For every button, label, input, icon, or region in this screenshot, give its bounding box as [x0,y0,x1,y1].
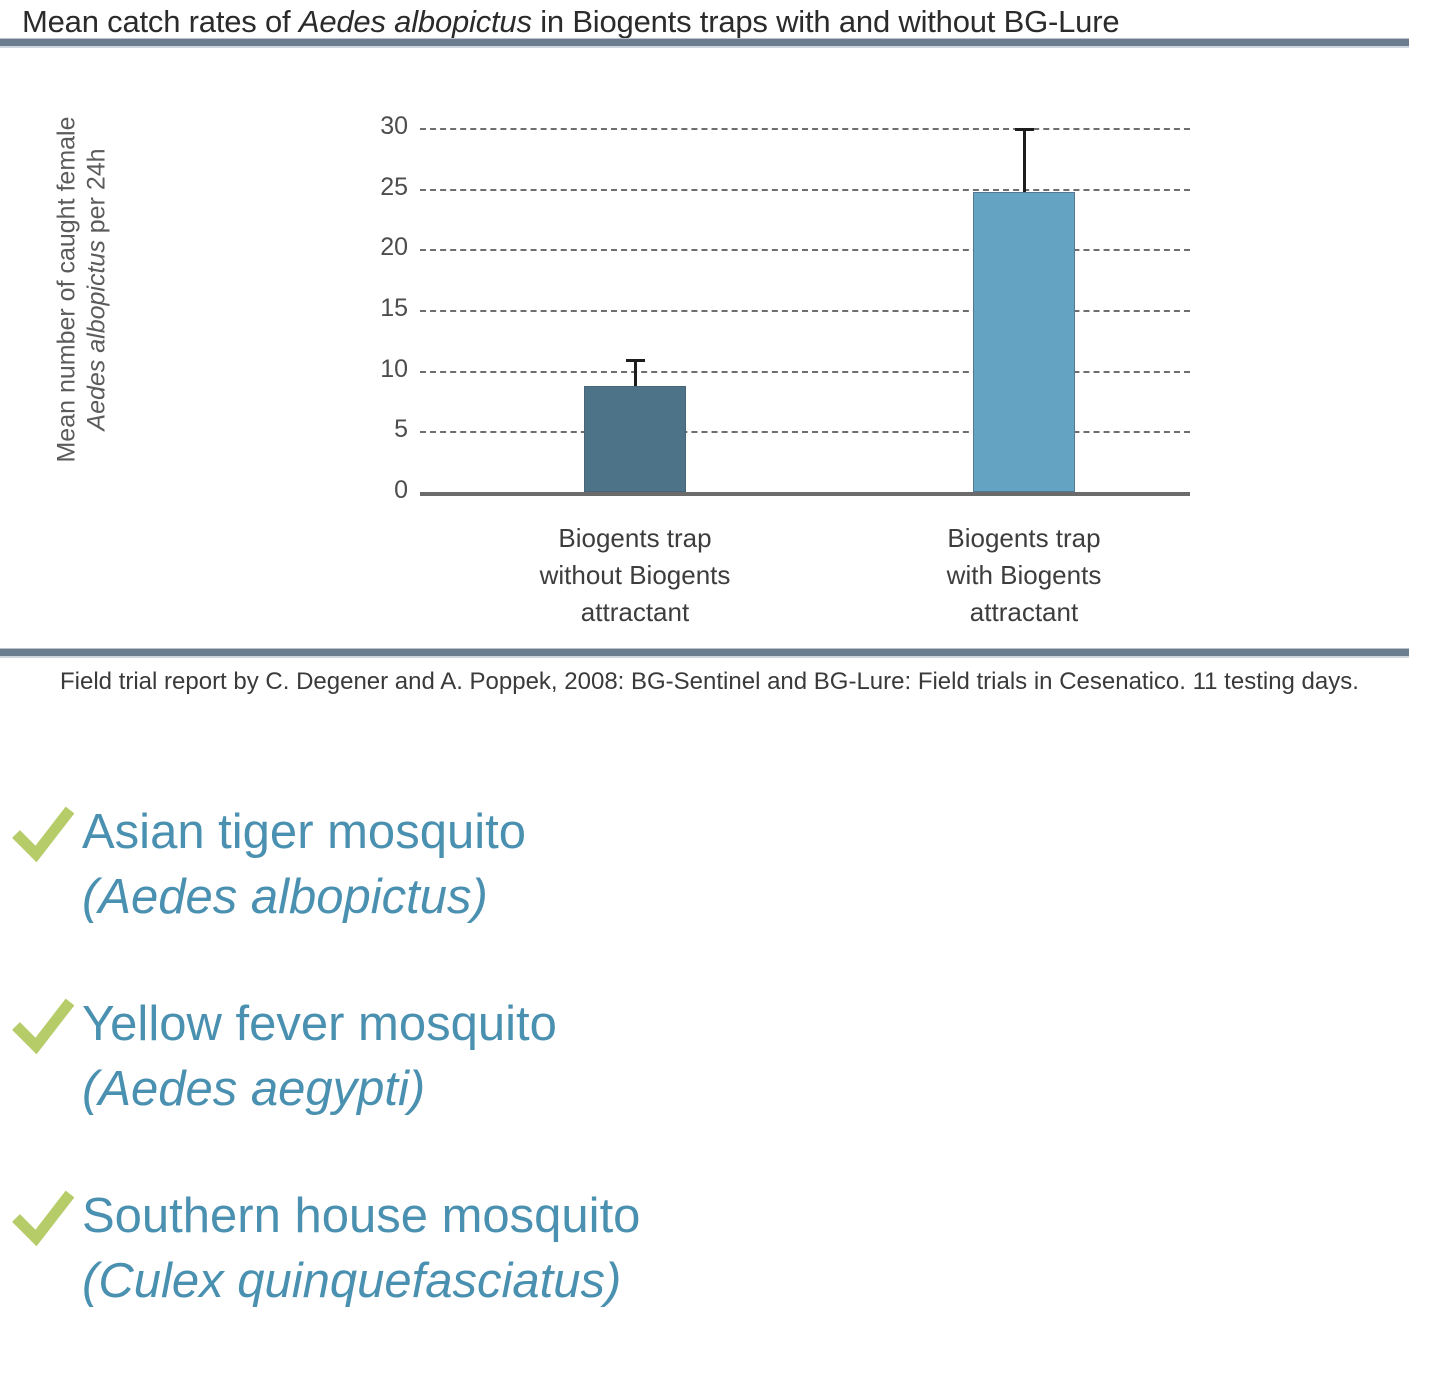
species-common-name: Asian tiger mosquito [82,800,1445,865]
y-axis-tick-label: 25 [348,173,408,202]
y-axis-tick-label: 20 [348,233,408,262]
gridline [420,128,1190,130]
page-title: Mean catch rates of Aedes albopictus in … [22,4,1422,40]
list-item: Yellow fever mosquito(Aedes aegypti) [0,992,1445,1132]
y-axis-tick-label: 0 [348,476,408,505]
divider-top [0,38,1409,48]
error-bar [1023,128,1026,192]
x-axis-line [420,492,1190,496]
x-axis-tick-label-line: without Biogents [470,557,800,594]
y-axis-title-line1: Mean number of caught female [53,60,83,520]
y-axis-title-unit: per 24h [82,148,110,240]
y-axis-tick-label: 15 [348,294,408,323]
y-axis-title: Mean number of caught female Aedes albop… [53,60,112,520]
bar [973,192,1075,492]
error-bar-cap [1015,128,1034,131]
species-list: Asian tiger mosquito(Aedes albopictus)Ye… [0,800,1445,1376]
x-axis-tick-label-line: Biogents trap [859,520,1189,557]
x-axis-tick-label: Biogents trapwith Biogentsattractant [859,520,1189,631]
page-title-part1: Mean catch rates of [22,4,299,39]
species-scientific-name: (Aedes aegypti) [82,1057,1445,1122]
plot-area: 051015202530Biogents trapwithout Biogent… [420,128,1190,492]
species-scientific-name: (Aedes albopictus) [82,865,1445,930]
y-axis-tick-label: 30 [348,112,408,141]
check-icon [12,806,74,862]
chart-caption: Field trial report by C. Degener and A. … [60,668,1420,696]
list-item: Asian tiger mosquito(Aedes albopictus) [0,800,1445,940]
x-axis-tick-label-line: attractant [859,594,1189,631]
page-title-species: Aedes albopictus [299,4,532,39]
page-title-part2: in Biogents traps with and without BG-Lu… [532,4,1120,39]
species-common-name: Yellow fever mosquito [82,992,1445,1057]
x-axis-tick-label-line: attractant [470,594,800,631]
y-axis-tick-label: 5 [348,415,408,444]
gridline [420,189,1190,191]
list-item-text: Yellow fever mosquito(Aedes aegypti) [82,992,1445,1122]
bar [584,386,686,492]
error-bar [634,359,637,387]
x-axis-tick-label: Biogents trapwithout Biogentsattractant [470,520,800,631]
x-axis-tick-label-line: with Biogents [859,557,1189,594]
check-icon [12,998,74,1054]
species-common-name: Southern house mosquito [82,1184,1445,1249]
check-icon [12,1190,74,1246]
list-item: Southern house mosquito(Culex quinquefas… [0,1184,1445,1324]
y-axis-tick-label: 10 [348,355,408,384]
species-scientific-name: (Culex quinquefasciatus) [82,1249,1445,1314]
x-axis-tick-label-line: Biogents trap [470,520,800,557]
list-item-text: Asian tiger mosquito(Aedes albopictus) [82,800,1445,930]
error-bar-cap [626,359,645,362]
list-item-text: Southern house mosquito(Culex quinquefas… [82,1184,1445,1314]
y-axis-title-line2: Aedes albopictus per 24h [82,60,112,520]
y-axis-title-species: Aedes albopictus [82,240,110,430]
bar-chart: Mean number of caught female Aedes albop… [0,60,1445,640]
divider-bottom [0,648,1409,658]
